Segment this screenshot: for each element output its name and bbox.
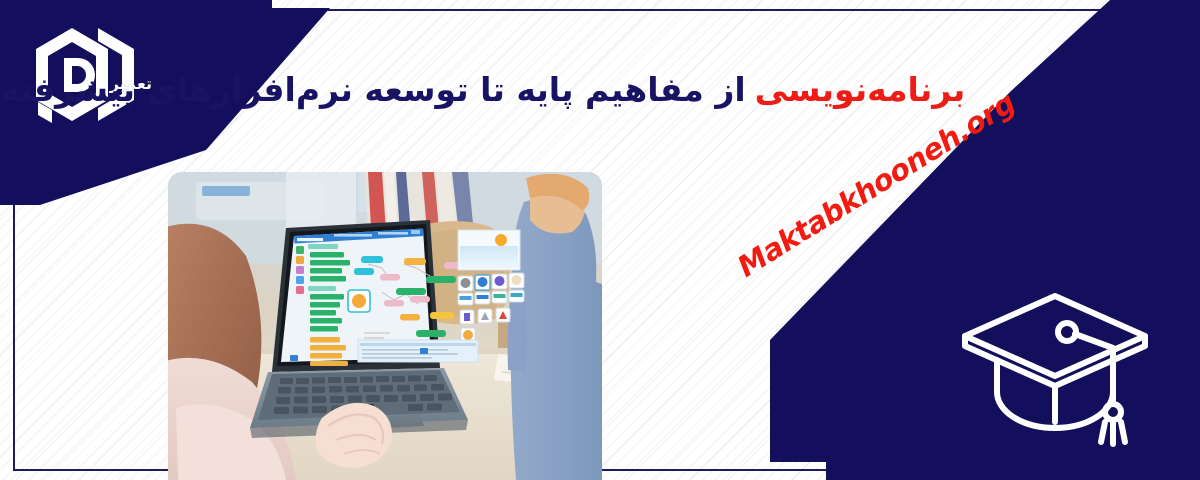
- promo-banner: تعمیر برنامه‌نویسی از مفاهیم پایه تا توس…: [0, 0, 1200, 480]
- headline-rest: از مفاهیم پایه تا توسعه نرم‌افزارهای پیش…: [0, 73, 746, 106]
- classroom-laptop-photo: [168, 172, 602, 480]
- headline-highlight: برنامه‌نویسی: [755, 73, 966, 106]
- headline: برنامه‌نویسی از مفاهیم پایه تا توسعه نرم…: [0, 58, 1200, 120]
- graduation-cap-icon: [955, 282, 1160, 457]
